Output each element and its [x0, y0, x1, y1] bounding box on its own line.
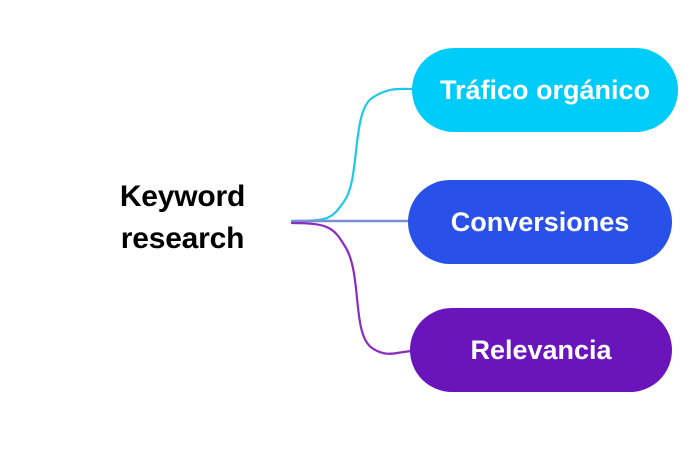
branch-node-label-relevance: Relevancia	[470, 335, 611, 366]
root-node-label-line-2: research	[60, 218, 305, 260]
connector-relevance	[292, 223, 414, 354]
connector-traffic	[292, 89, 414, 221]
branch-node-label-conversions: Conversiones	[451, 207, 630, 238]
mind-map-diagram: Keyword research Tráfico orgánico Conver…	[0, 0, 700, 452]
branch-node-relevance[interactable]: Relevancia	[410, 308, 672, 392]
root-node-keyword-research[interactable]: Keyword research	[60, 176, 305, 260]
branch-node-traffic[interactable]: Tráfico orgánico	[412, 48, 678, 132]
branch-node-conversions[interactable]: Conversiones	[408, 180, 672, 264]
root-node-label-line-1: Keyword	[60, 176, 305, 218]
branch-node-label-traffic: Tráfico orgánico	[440, 75, 650, 106]
